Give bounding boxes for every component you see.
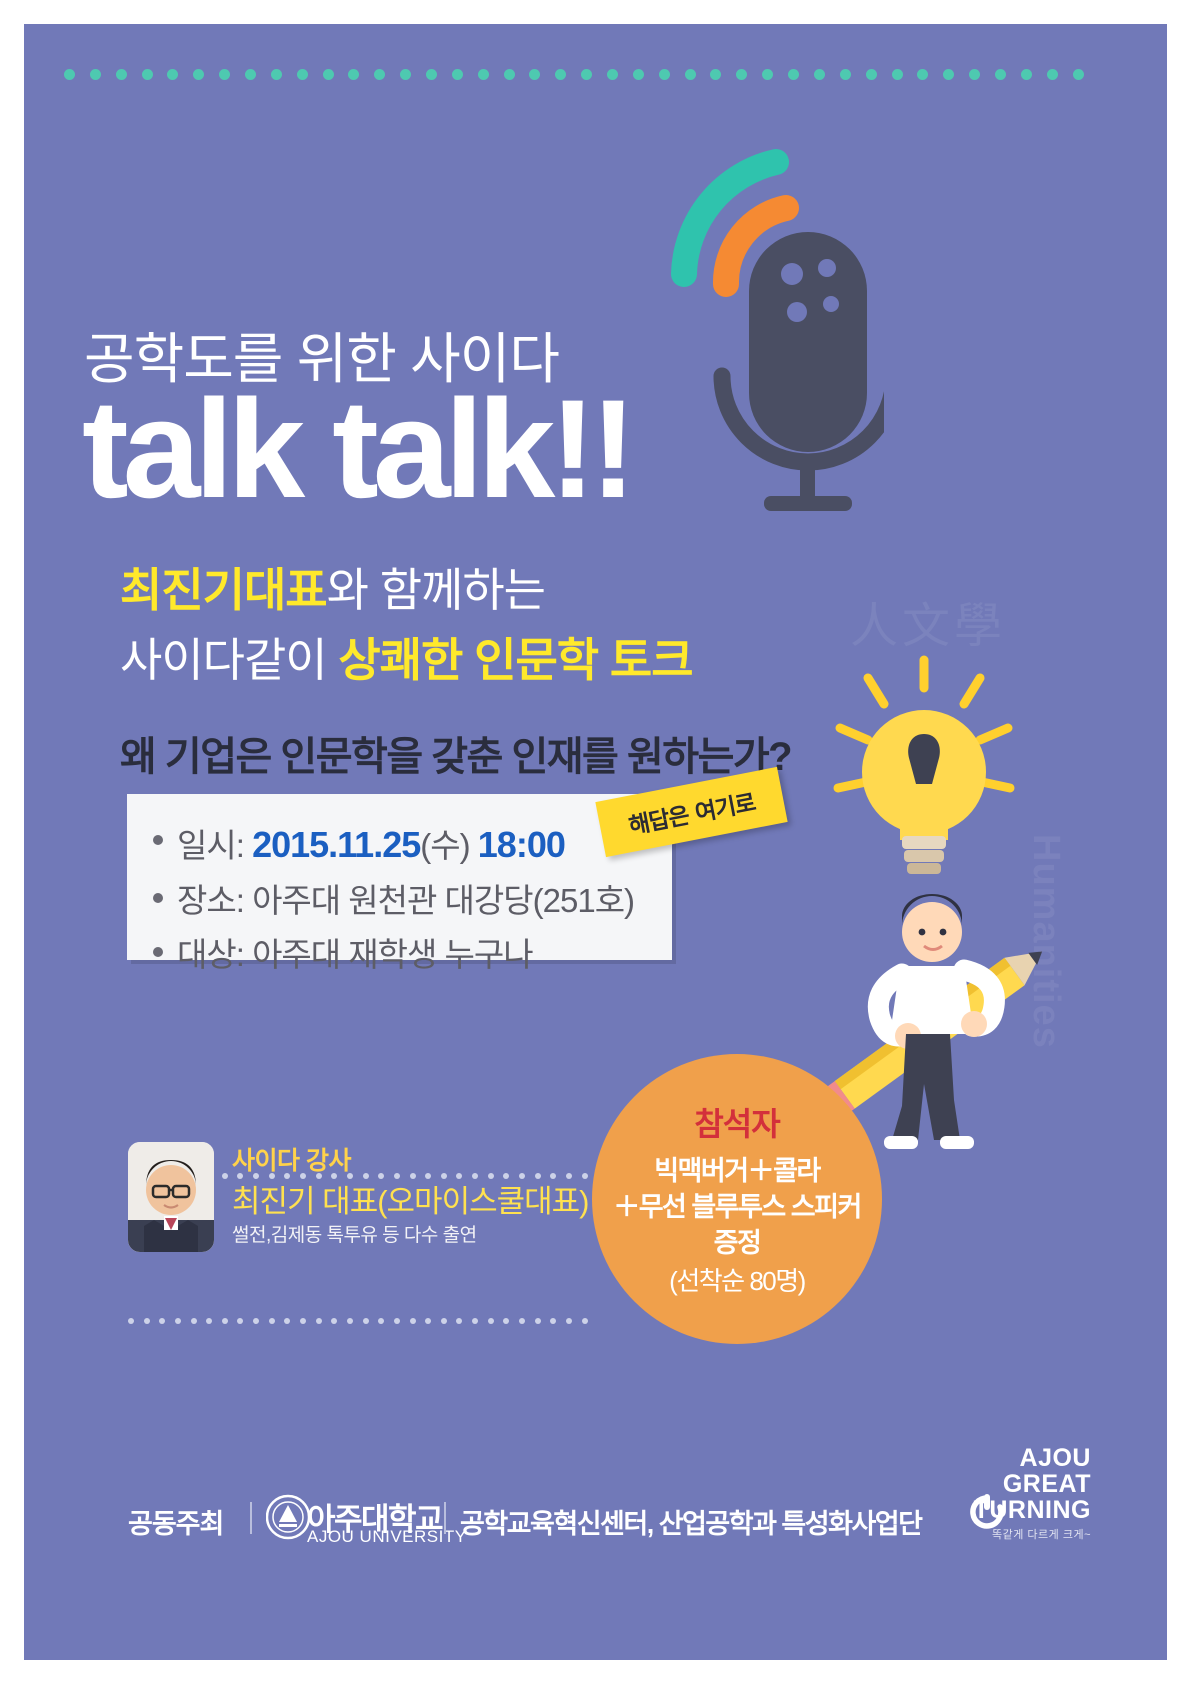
footer-divider-1 [250, 1502, 252, 1534]
speaker-role: 사이다 강사 [232, 1141, 351, 1177]
speaker-divider-bottom [128, 1317, 588, 1324]
subtitle-speaker-highlight: 최진기대표 [120, 564, 327, 616]
info-label-venue: 장소: [177, 882, 244, 919]
poster-canvas: 공학도를 위한 사이다 talk talk!! 최진기대표와 함께하는 사이다같… [24, 24, 1167, 1660]
prize-line-3: 증정 [714, 1226, 761, 1262]
subtitle-line-2-highlight: 상쾌한 인문학 토크 [338, 634, 692, 686]
brand-line-1: AJOU [1020, 1444, 1091, 1473]
info-venue-value: 아주대 원천관 대강당(251호) [252, 882, 634, 919]
subtitle-line-2: 사이다같이 상쾌한 인문학 토크 [120, 624, 693, 690]
prize-line-2: ＋무선 블루투스 스피커 [613, 1190, 861, 1226]
organizer-names: 공학교육혁신센터, 산업공학과 특성화사업단 [460, 1502, 921, 1541]
prize-title: 참석자 [694, 1099, 779, 1145]
info-label-datetime: 일시: [177, 827, 244, 864]
subtitle-line-2-plain: 사이다같이 [120, 634, 338, 686]
prize-badge: 참석자 빅맥버거＋콜라 ＋무선 블루투스 스피커 증정 (선착순 80명) [592, 1054, 882, 1344]
info-date-value: 2015.11.25 [252, 824, 420, 865]
info-row-venue: 장소: 아주대 원천관 대강당(251호) [151, 874, 672, 927]
cohost-label: 공동주최 [128, 1502, 223, 1541]
info-row-datetime: 일시: 2015.11.25(수) 18:00 [151, 816, 672, 874]
turning-arrow-icon [967, 1492, 1007, 1532]
footer-divider-2 [444, 1502, 446, 1534]
prize-line-4: (선착순 80명) [669, 1264, 805, 1298]
speaker-credits: 썰전,김제동 톡투유 등 다수 출연 [232, 1220, 477, 1247]
event-info-box: 일시: 2015.11.25(수) 18:00 장소: 아주대 원천관 대강당(… [127, 794, 672, 960]
page-title: talk talk!! [82, 379, 631, 519]
info-label-audience: 대상: [177, 936, 244, 973]
subtitle-line-1: 최진기대표와 함께하는 [120, 554, 545, 620]
question-text: 왜 기업은 인문학을 갖춘 인재를 원하는가? [120, 724, 791, 782]
subtitle-line-1-rest: 와 함께하는 [327, 564, 545, 616]
brand-line-2: GREAT [1003, 1470, 1091, 1499]
lightbulb-icon [824, 654, 1024, 894]
top-dotted-rule [64, 68, 1084, 80]
prize-line-1: 빅맥버거＋콜라 [654, 1154, 820, 1190]
ajou-seal-icon [266, 1494, 310, 1540]
info-weekday-value: (수) [420, 827, 469, 864]
info-row-audience: 대상: 아주대 재학생 누구나 [151, 928, 672, 981]
kanji-decoration: 人文學 [850, 586, 1006, 656]
info-time-value: 18:00 [478, 824, 565, 865]
great-turning-logo: AJOU GREAT TURNING 똑같게 다르게 크게~ [969, 1444, 1099, 1554]
speaker-name: 최진기 대표(오마이스쿨대표) [232, 1176, 589, 1221]
university-name-en: AJOU UNIVERSITY [307, 1527, 467, 1547]
info-audience-value: 아주대 재학생 누구나 [252, 936, 533, 973]
speaker-avatar [128, 1142, 214, 1252]
microphone-icon [664, 144, 884, 544]
